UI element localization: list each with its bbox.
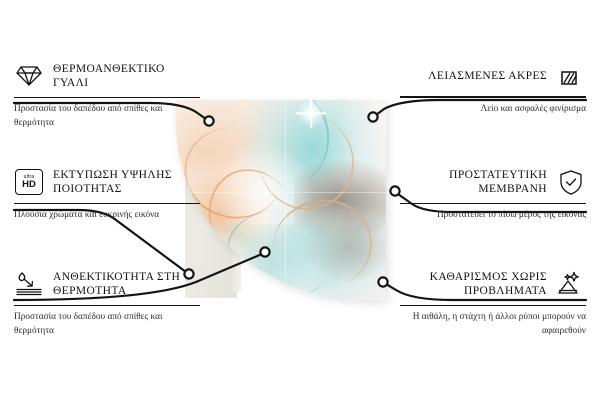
feature-title: ΠΡΟΣΤΑΤΕΥΤΙΚΗ ΜΕΜΒΡΑΝΗ: [400, 168, 547, 197]
feature-title: ΚΑΘΑΡΙΣΜΟΣ ΧΩΡΙΣ ΠΡΟΒΛΗΜΑΤΑ: [400, 270, 547, 299]
ultra-hd-icon-main-label: HD: [22, 180, 36, 190]
feature-title: ΘΕΡΜΟΑΝΘΕΚΤΙΚΟ ΓΥΑΛΙ: [53, 62, 200, 91]
feature-divider: [14, 305, 200, 307]
feature-divider: [400, 203, 586, 205]
feature-divider: [14, 97, 200, 99]
feature-description: Προστασία του δαπέδου από σπίθες και θερ…: [14, 103, 200, 131]
feature-title: ΕΚΤΥΠΩΣΗ ΥΨΗΛΗΣ ΠΟΙΟΤΗΤΑΣ: [53, 168, 200, 197]
sparkle-clean-icon: [556, 270, 586, 298]
connector-dot-3: [260, 247, 269, 256]
feature-divider: [400, 96, 586, 98]
feature-description: Προστασία του δαπέδου από σπίθες και θερ…: [14, 311, 200, 339]
feature-title: ΛΕΙΑΣΜΕΝΕΣ ΑΚΡΕΣ: [428, 69, 547, 83]
feature-description: Προστατεύει το πίσω μέρος της εικόνας: [400, 209, 586, 223]
heat-resistance-icon: [14, 270, 44, 298]
connector-dot-1: [204, 116, 213, 125]
feature-description: Λείο και ασφαλές φινίρισμα: [400, 103, 586, 117]
feature-title: ΑΝΘΕΚΤΙΚΟΤΗΤΑ ΣΤΗ ΘΕΡΜΟΤΗΤΑ: [53, 270, 200, 299]
feature-divider: [14, 203, 200, 205]
feature-polished-edges: ΛΕΙΑΣΜΕΝΕΣ ΑΚΡΕΣ Λείο και ασφαλές φινίρι…: [400, 62, 586, 117]
infographic-stage: ΘΕΡΜΟΑΝΘΕΚΤΙΚΟ ΓΥΑΛΙ Προστασία του δαπέδ…: [0, 0, 600, 400]
feature-heat-resistant-glass: ΘΕΡΜΟΑΝΘΕΚΤΙΚΟ ΓΥΑΛΙ Προστασία του δαπέδ…: [14, 62, 200, 131]
feature-high-quality-print: ultra HD ΕΚΤΥΠΩΣΗ ΥΨΗΛΗΣ ΠΟΙΟΤΗΤΑΣ Πλούσ…: [14, 168, 200, 223]
connector-dot-4: [368, 112, 377, 121]
feature-divider: [400, 305, 586, 307]
feature-description: Η αιθάλη, η στάχτη ή άλλοι ρύποι μπορούν…: [400, 311, 586, 339]
feature-easy-cleaning: ΚΑΘΑΡΙΣΜΟΣ ΧΩΡΙΣ ΠΡΟΒΛΗΜΑΤΑ Η αιθάλη, η …: [400, 270, 586, 339]
feature-description: Πλούσια χρώματα και ευκρινής εικόνα: [14, 209, 200, 223]
connector-dot-6: [378, 277, 387, 286]
ultra-hd-icon: ultra HD: [14, 168, 44, 196]
feature-heat-durability: ΑΝΘΕΚΤΙΚΟΤΗΤΑ ΣΤΗ ΘΕΡΜΟΤΗΤΑ Προστασία το…: [14, 270, 200, 339]
polished-edges-icon: [556, 62, 586, 90]
feature-protective-membrane: ΠΡΟΣΤΑΤΕΥΤΙΚΗ ΜΕΜΒΡΑΝΗ Προστατεύει το πί…: [400, 168, 586, 223]
diamond-icon: [14, 62, 44, 90]
connector-dot-5: [390, 186, 399, 195]
shield-check-icon: [556, 168, 586, 196]
